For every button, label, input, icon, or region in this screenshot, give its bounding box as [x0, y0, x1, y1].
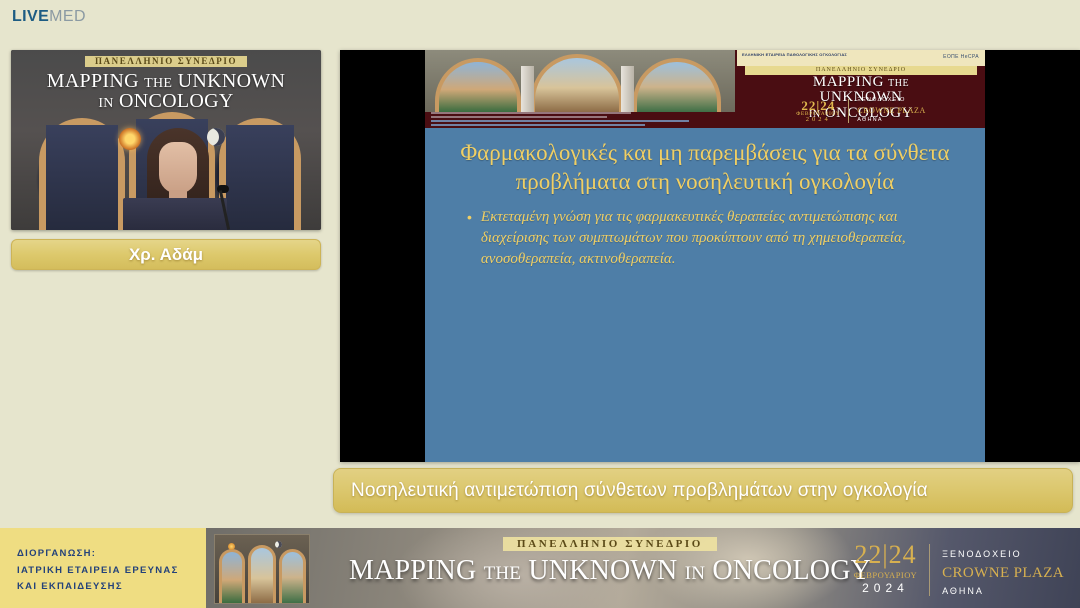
slide-bullet-list: • Εκτεταμένη γνώση για τις φαρμακευτικές… — [447, 207, 963, 271]
slide-header: ΕΛΛΗΝΙΚΗ ΕΤΑΙΡΕΙΑ ΠΑΘΟΛΟΓΙΚΗΣ ΟΓΚΟΛΟΓΙΑΣ… — [425, 50, 985, 128]
backdrop-kicker: ΠΑΝΕΛΛΗΝΙΟ ΣΥΝΕΔΡΙΟ — [85, 56, 247, 67]
backdrop-title-mapping: MAPPING — [47, 70, 139, 92]
presentation-slide: ΕΛΛΗΝΙΚΗ ΕΤΑΙΡΕΙΑ ΠΑΘΟΛΟΓΙΚΗΣ ΟΓΚΟΛΟΓΙΑΣ… — [425, 50, 985, 462]
footer-bar: ΔΙΟΡΓΑΝΩΣΗ: ΙΑΤΡΙΚΗ ΕΤΑΙΡΕΙΑ ΕΡΕΥΝΑΣ ΚΑΙ… — [0, 528, 1080, 608]
slide-header-congress-logo: ΕΛΛΗΝΙΚΗ ΕΤΑΙΡΕΙΑ ΠΑΘΟΛΟΓΙΚΗΣ ΟΓΚΟΛΟΓΙΑΣ… — [737, 50, 985, 128]
speaker-video[interactable]: ΠΑΝΕΛΛΗΝΙΟ ΣΥΝΕΔΡΙΟ MAPPING THE UNKNOWN … — [11, 50, 321, 230]
slide-header-the: THE — [888, 78, 909, 89]
footer-title-mapping: MAPPING — [349, 555, 476, 586]
footer-moon-icon — [275, 541, 282, 548]
backdrop-title-oncology: ONCOLOGY — [119, 90, 234, 112]
session-title-banner: Νοσηλευτική αντιμετώπιση σύνθετων προβλη… — [333, 468, 1073, 513]
footer-month: ΦΕΒΡΟΥΑΡΙΟΥ — [854, 571, 917, 580]
footer-congress-title: MAPPING THE UNKNOWN IN ONCOLOGY — [330, 555, 890, 587]
slide-header-artwork — [425, 50, 735, 112]
footer-sun-icon — [228, 543, 235, 550]
slide-header-year: 2024 — [796, 117, 840, 124]
logo-live-text: LIVE — [12, 8, 49, 25]
logo-med-text: MED — [49, 8, 86, 25]
footer-year: 2024 — [854, 582, 917, 594]
slide-header-date-range: 22|24 — [796, 99, 840, 112]
footer-title-the: THE — [484, 563, 522, 584]
slide-header-sponsor-text: ΕΟΠΕ ΗeCPA — [943, 54, 979, 60]
footer-organizer-text: ΔΙΟΡΓΑΝΩΣΗ: ΙΑΤΡΙΚΗ ΕΤΑΙΡΕΙΑ ΕΡΕΥΝΑΣ ΚΑΙ… — [17, 546, 179, 596]
sun-emblem-icon — [119, 128, 141, 150]
footer-dates: 22|24 ΦΕΒΡΟΥΑΡΙΟΥ 2024 — [854, 542, 917, 594]
bullet-marker-icon: • — [467, 207, 472, 271]
slide-header-venue-name: CROWNE PLAZA — [857, 105, 925, 117]
speaker-panel: ΠΑΝΕΛΛΗΝΙΟ ΣΥΝΕΔΡΙΟ MAPPING THE UNKNOWN … — [11, 50, 321, 270]
slide-header-venue-label: ΞΕΝΟΔΟΧΕΙΟ — [857, 97, 925, 105]
laptop — [123, 198, 227, 230]
backdrop-title-unknown: UNKNOWN — [178, 70, 286, 92]
slide-body: Φαρμακολογικές και μη παρεμβάσεις για τα… — [425, 128, 985, 271]
slide-header-contact-lines — [431, 112, 731, 128]
bullet-text: Εκτεταμένη γνώση για τις φαρμακευτικές θ… — [481, 207, 963, 271]
slide-header-org-text: ΕΛΛΗΝΙΚΗ ΕΤΑΙΡΕΙΑ ΠΑΘΟΛΟΓΙΚΗΣ ΟΓΚΟΛΟΓΙΑΣ — [742, 52, 847, 58]
footer-venue: ΞΕΝΟΔΟΧΕΙΟ CROWNE PLAZA ΑΘΗΝΑ — [942, 542, 1064, 599]
slide-viewport[interactable]: ΕΛΛΗΝΙΚΗ ΕΤΑΙΡΕΙΑ ΠΑΘΟΛΟΓΙΚΗΣ ΟΓΚΟΛΟΓΙΑΣ… — [340, 50, 1080, 462]
slide-header-dates: 22|24 ΦΕΒΡΟΥΑΡΙΟΥ 2024 — [796, 99, 840, 124]
backdrop-arch-right — [219, 118, 301, 230]
footer-title-unknown: UNKNOWN — [528, 555, 677, 586]
footer-organizer-label: ΔΙΟΡΓΑΝΩΣΗ: — [17, 546, 179, 563]
footer-title-in: IN — [685, 563, 705, 584]
slide-header-venue: ΞΕΝΟΔΟΧΕΙΟ CROWNE PLAZA ΑΘΗΝΑ — [857, 97, 925, 125]
backdrop-title: ΠΑΝΕΛΛΗΝΙΟ ΣΥΝΕΔΡΙΟ MAPPING THE UNKNOWN … — [11, 52, 321, 111]
slide-title: Φαρμακολογικές και μη παρεμβάσεις για τα… — [447, 138, 963, 197]
footer-kicker: ΠΑΝΕΛΛΗΝΙΟ ΣΥΝΕΔΡΙΟ — [503, 537, 717, 551]
footer-date-end: 24 — [889, 540, 917, 569]
backdrop-title-the: THE — [144, 76, 172, 91]
slide-header-details: 22|24 ΦΕΒΡΟΥΑΡΙΟΥ 2024 ΞΕΝΟΔΟΧΕΙΟ CROWNE… — [737, 97, 985, 125]
footer-details: 22|24 ΦΕΒΡΟΥΑΡΙΟΥ 2024 ΞΕΝΟΔΟΧΕΙΟ CROWNE… — [854, 542, 1064, 599]
player-page: LIVEMED ΠΑΝΕΛΛΗΝΙΟ ΣΥΝΕΔΡΙΟ MAPPING THE … — [0, 0, 1080, 608]
footer-artwork-thumbnail — [214, 534, 310, 604]
footer-congress-title-block: ΠΑΝΕΛΛΗΝΙΟ ΣΥΝΕΔΡΙΟ MAPPING THE UNKNOWN … — [330, 534, 890, 587]
footer-organizer-name-2: ΚΑΙ ΕΚΠΑΙΔΕΥΣΗΣ — [17, 579, 179, 596]
slide-header-mapping: MAPPING — [813, 74, 884, 90]
backdrop-title-in: IN — [98, 96, 113, 111]
slide-header-divider — [848, 99, 849, 123]
speaker-name-banner: Χρ. Αδάμ — [11, 239, 321, 270]
footer-title-oncology: ONCOLOGY — [712, 555, 871, 586]
livemed-logo[interactable]: LIVEMED — [12, 8, 86, 26]
slide-header-sponsor-strip: ΕΛΛΗΝΙΚΗ ΕΤΑΙΡΕΙΑ ΠΑΘΟΛΟΓΙΚΗΣ ΟΓΚΟΛΟΓΙΑΣ… — [737, 50, 985, 66]
backdrop-arch-left — [39, 118, 125, 230]
footer-date-start: 22 — [854, 540, 882, 569]
footer-venue-city: ΑΘΗΝΑ — [942, 585, 1064, 599]
footer-venue-label: ΞΕΝΟΔΟΧΕΙΟ — [942, 548, 1064, 562]
footer-divider — [929, 544, 930, 596]
list-item: • Εκτεταμένη γνώση για τις φαρμακευτικές… — [447, 207, 963, 271]
footer-venue-name: CROWNE PLAZA — [942, 562, 1064, 585]
footer-organizer-name-1: ΙΑΤΡΙΚΗ ΕΤΑΙΡΕΙΑ ΕΡΕΥΝΑΣ — [17, 563, 179, 580]
slide-header-venue-city: ΑΘΗΝΑ — [857, 117, 925, 125]
